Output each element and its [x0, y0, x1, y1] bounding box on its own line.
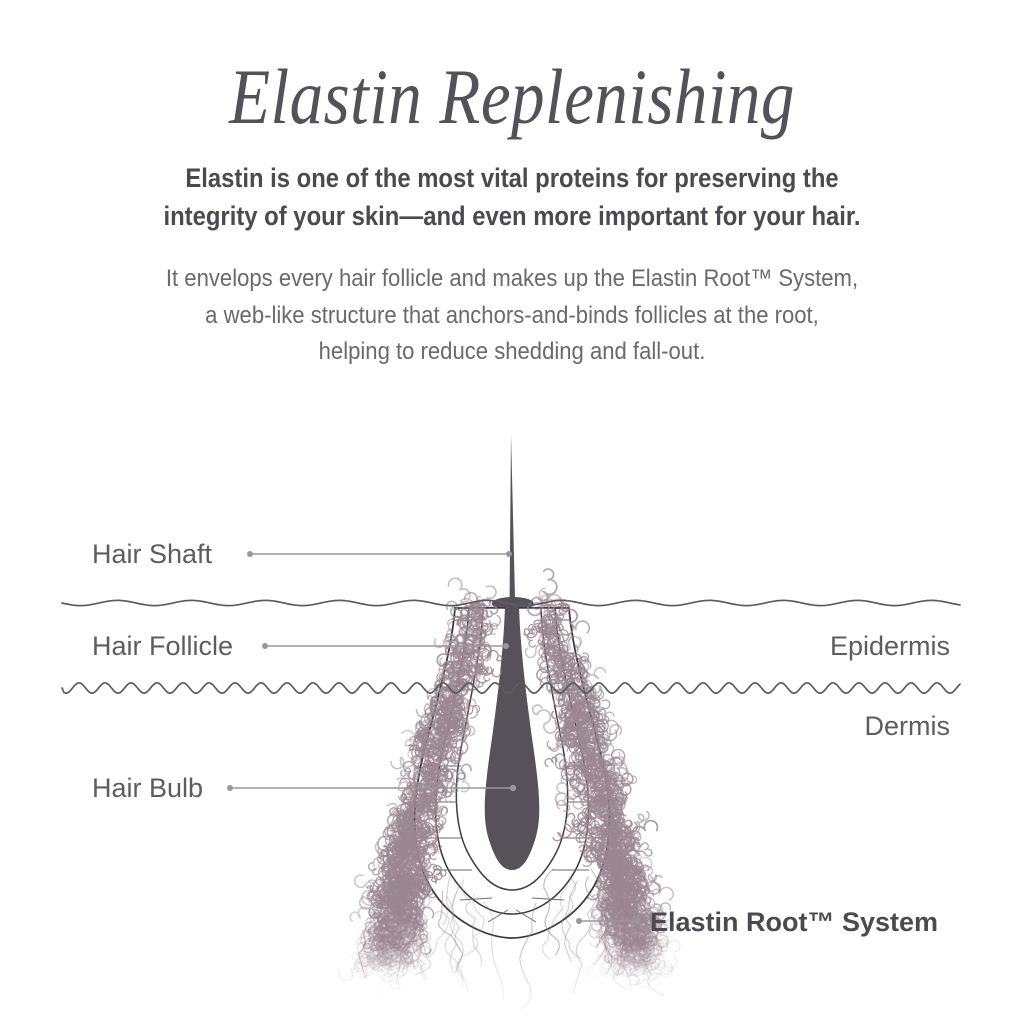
page-root: Elastin Replenishing Elastin is one of t…: [0, 0, 1024, 1024]
header-block: Elastin Replenishing Elastin is one of t…: [0, 0, 1024, 371]
leader-hair-shaft: [247, 551, 512, 557]
label-hair-shaft: Hair Shaft: [92, 539, 213, 569]
label-hair-bulb: Hair Bulb: [92, 773, 203, 803]
label-dermis: Dermis: [865, 711, 951, 741]
subtitle-text: Elastin is one of the most vital protein…: [139, 160, 886, 235]
hair-follicle-diagram: Hair Shaft Hair Follicle Hair Bulb Epide…: [0, 398, 1024, 1024]
label-epidermis: Epidermis: [830, 631, 950, 661]
hair-shaft-upper: [508, 434, 519, 604]
label-hair-follicle: Hair Follicle: [92, 631, 233, 661]
page-title: Elastin Replenishing: [72, 58, 953, 136]
body-line-2: a web-like structure that anchors-and-bi…: [107, 298, 917, 334]
web-fade-mask: [330, 946, 700, 1024]
body-line-1: It envelops every hair follicle and make…: [107, 261, 917, 297]
body-copy: It envelops every hair follicle and make…: [107, 261, 917, 370]
body-line-3: helping to reduce shedding and fall-out.: [107, 334, 917, 370]
label-elastin-root-system: Elastin Root™ System: [650, 907, 938, 937]
diagram-svg: Hair Shaft Hair Follicle Hair Bulb Epide…: [0, 398, 1024, 1024]
